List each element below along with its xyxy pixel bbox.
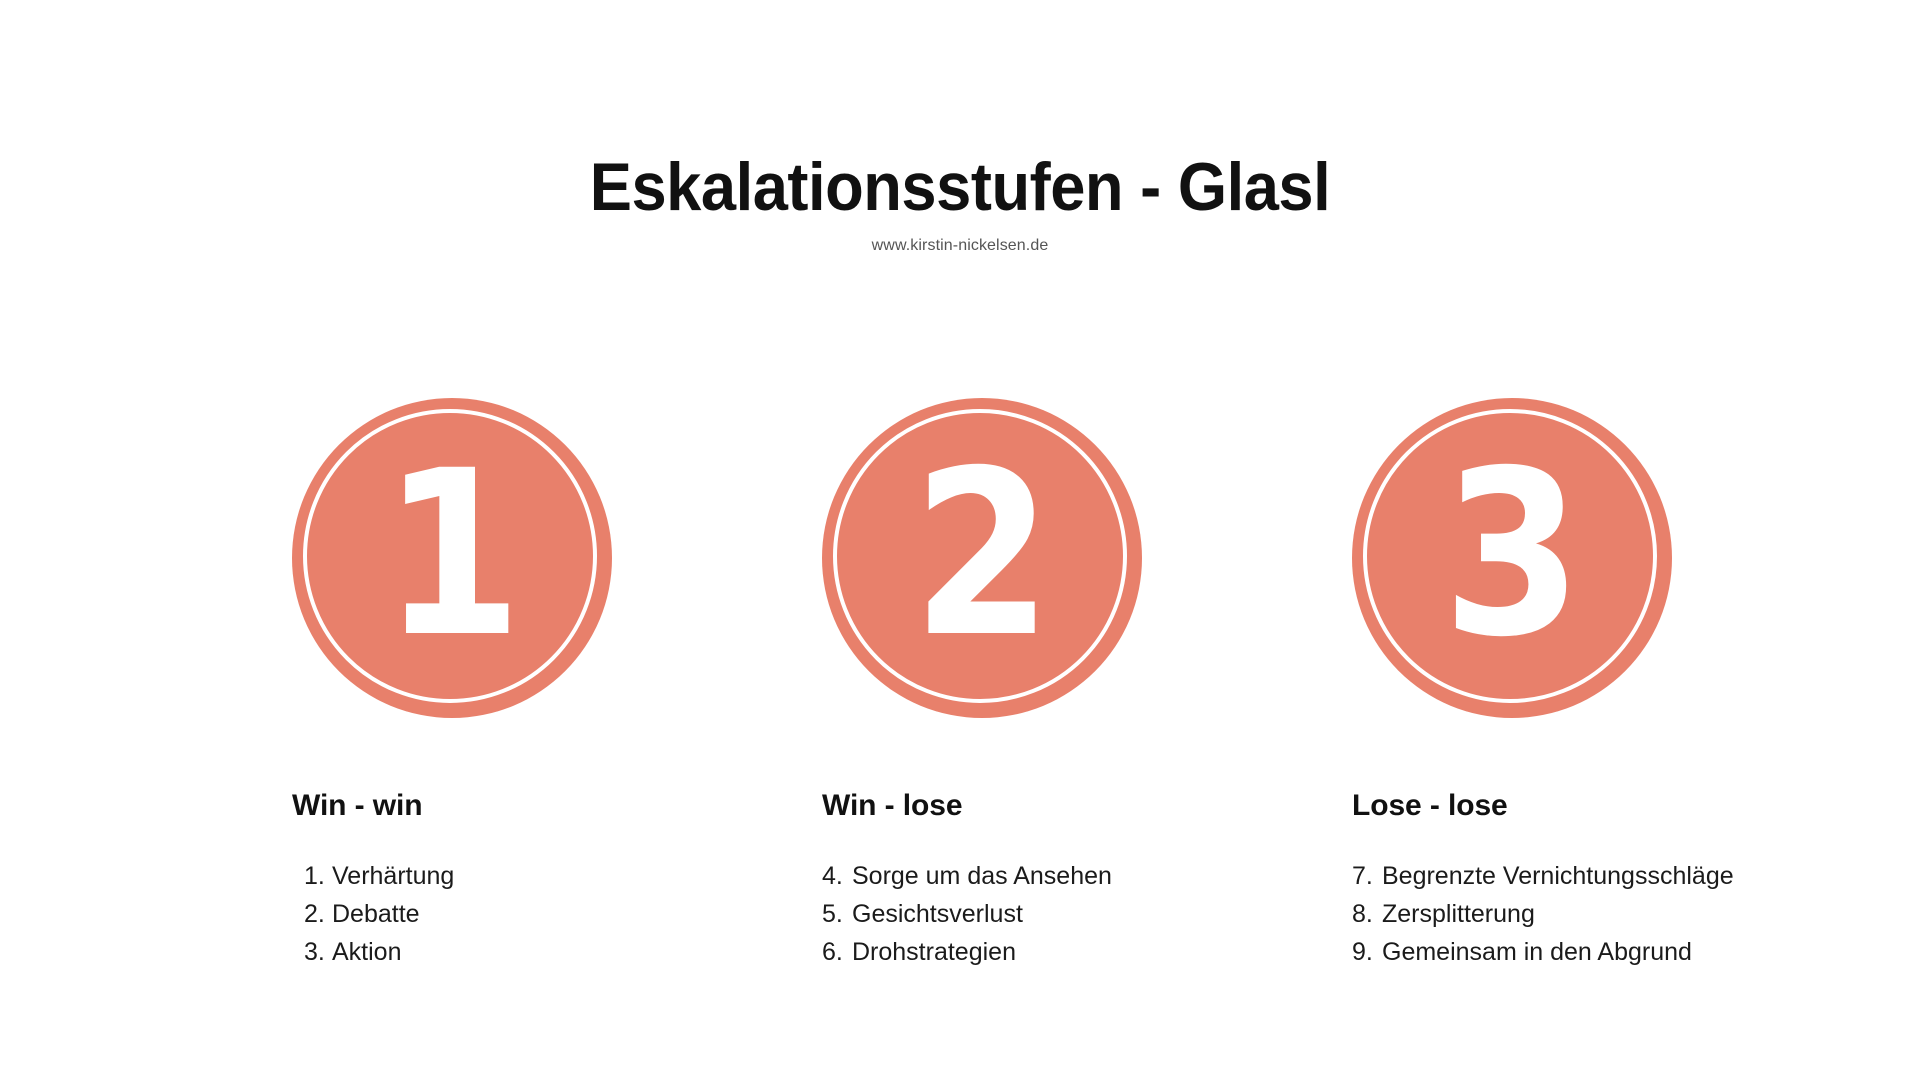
list-item: 4. Sorge um das Ansehen (822, 864, 1352, 902)
badge-circle-2: 2 (822, 398, 1142, 718)
list-item-label: Sorge um das Ansehen (852, 864, 1112, 889)
stage-badge-3: 3 (1352, 398, 1672, 718)
stage-group-heading-3: Lose - lose (1352, 718, 1882, 824)
stage-group-3: 3 Lose - lose 7. Begrenzte Vernichtungss… (1352, 398, 1882, 978)
source-url-label: www.kirstin-nickelsen.de (0, 237, 1920, 255)
stage-group-heading-1: Win - win (292, 718, 822, 824)
list-item-label: Begrenzte Vernichtungsschläge (1382, 864, 1734, 889)
badge-number-1: 1 (382, 440, 522, 668)
list-item-label: Gemeinsam in den Abgrund (1382, 940, 1692, 965)
list-item-number: 8. (1352, 902, 1382, 927)
stage-group-heading-2: Win - lose (822, 718, 1352, 824)
stage-badge-2: 2 (822, 398, 1142, 718)
list-item-label: Drohstrategien (852, 940, 1016, 965)
badge-number-2: 2 (912, 440, 1052, 668)
list-item-number: 2. (304, 902, 332, 927)
list-item: 5. Gesichtsverlust (822, 902, 1352, 940)
list-item-number: 3. (304, 940, 332, 965)
list-item-label: Debatte (332, 902, 420, 927)
list-item: 2. Debatte (304, 902, 822, 940)
slide-canvas: Eskalationsstufen - Glasl www.kirstin-ni… (0, 0, 1920, 1080)
list-item: 3. Aktion (304, 940, 822, 978)
stage-list-2: 4. Sorge um das Ansehen 5. Gesichtsverlu… (822, 824, 1352, 978)
list-item: 1. Verhärtung (304, 864, 822, 902)
list-item: 8. Zersplitterung (1352, 902, 1882, 940)
stage-list-1: 1. Verhärtung 2. Debatte 3. Aktion (292, 824, 822, 978)
badge-number-3: 3 (1442, 440, 1582, 668)
list-item-number: 4. (822, 864, 852, 889)
stage-group-1: 1 Win - win 1. Verhärtung 2. Debatte 3. … (292, 398, 822, 978)
slide-header: Eskalationsstufen - Glasl www.kirstin-ni… (0, 152, 1920, 255)
list-item-label: Gesichtsverlust (852, 902, 1023, 927)
list-item: 9. Gemeinsam in den Abgrund (1352, 940, 1882, 978)
list-item-number: 6. (822, 940, 852, 965)
page-title: Eskalationsstufen - Glasl (67, 152, 1853, 223)
stage-list-3: 7. Begrenzte Vernichtungsschläge 8. Zers… (1352, 824, 1882, 978)
list-item-number: 7. (1352, 864, 1382, 889)
list-item: 7. Begrenzte Vernichtungsschläge (1352, 864, 1882, 902)
list-item: 6. Drohstrategien (822, 940, 1352, 978)
list-item-label: Verhärtung (332, 864, 454, 889)
list-item-label: Aktion (332, 940, 401, 965)
list-item-label: Zersplitterung (1382, 902, 1535, 927)
stage-badge-1: 1 (292, 398, 612, 718)
badge-circle-1: 1 (292, 398, 612, 718)
list-item-number: 5. (822, 902, 852, 927)
escalation-stage-groups: 1 Win - win 1. Verhärtung 2. Debatte 3. … (0, 398, 1920, 1018)
list-item-number: 1. (304, 864, 332, 889)
stage-group-2: 2 Win - lose 4. Sorge um das Ansehen 5. … (822, 398, 1352, 978)
badge-circle-3: 3 (1352, 398, 1672, 718)
list-item-number: 9. (1352, 940, 1382, 965)
